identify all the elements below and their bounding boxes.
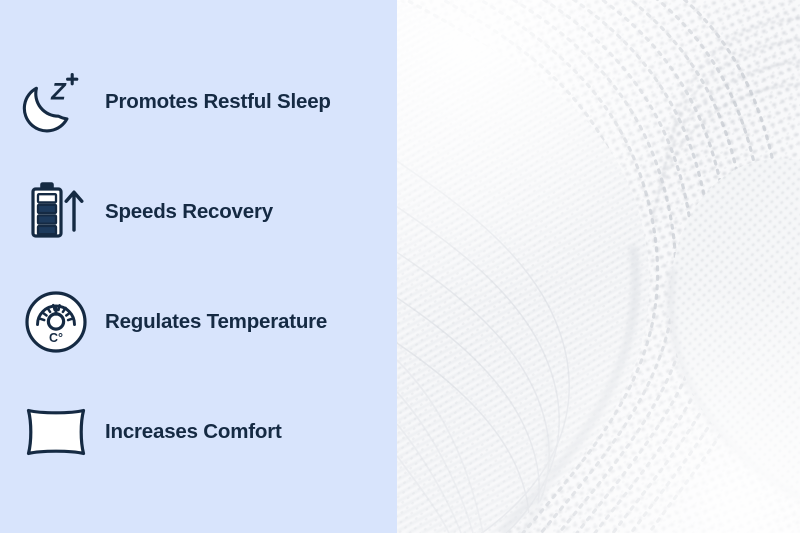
mattress-fabric-photo xyxy=(397,0,800,533)
benefit-row: Speeds Recovery xyxy=(8,157,397,267)
pillow-icon xyxy=(8,393,104,471)
svg-text:Z: Z xyxy=(50,78,67,105)
benefit-row: Increases Comfort xyxy=(8,377,397,487)
battery-charging-up-arrow-icon xyxy=(8,173,104,251)
moon-z-plus-icon: Z xyxy=(8,63,104,141)
benefit-row: C° Regulates Temperature xyxy=(8,267,397,377)
benefits-panel: Z Promotes Restful Sleep xyxy=(0,0,397,533)
gauge-unit-label: C° xyxy=(49,330,63,344)
benefit-row: Z Promotes Restful Sleep xyxy=(8,47,397,157)
temperature-gauge-icon: C° xyxy=(8,283,104,361)
benefit-label: Promotes Restful Sleep xyxy=(105,90,331,114)
benefit-label: Increases Comfort xyxy=(105,420,282,444)
benefit-label: Speeds Recovery xyxy=(105,200,273,224)
feature-banner: Z Promotes Restful Sleep xyxy=(0,0,800,533)
benefit-label: Regulates Temperature xyxy=(105,310,327,334)
